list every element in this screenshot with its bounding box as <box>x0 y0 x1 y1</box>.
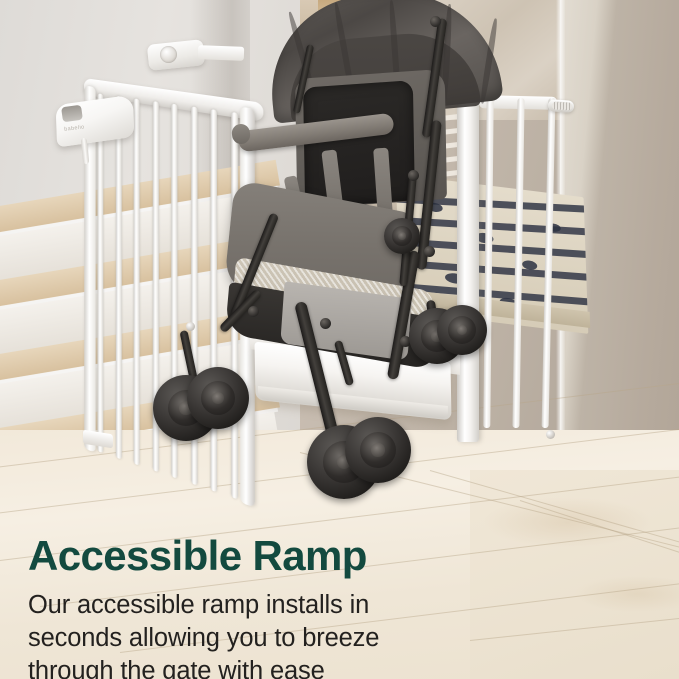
stroller-seat-pad <box>303 80 415 208</box>
frame-joint <box>320 318 331 329</box>
body-line-2: seconds allowing you to breeze <box>28 622 588 655</box>
hub <box>371 443 384 456</box>
hub <box>457 325 467 335</box>
body-line-3: through the gate with ease <box>28 655 588 679</box>
body-line-1: Our accessible ramp installs in <box>28 589 588 622</box>
frame-joint <box>424 246 435 257</box>
frame-joint <box>430 16 441 27</box>
headline: Accessible Ramp <box>28 534 588 579</box>
marketing-copy: Accessible Ramp Our accessible ramp inst… <box>28 534 588 679</box>
hub <box>398 232 405 239</box>
frame-joint <box>248 306 259 317</box>
body-copy: Our accessible ramp installs in seconds … <box>28 589 588 679</box>
product-lifestyle-image: babelio Accessible R <box>0 0 679 679</box>
frame-joint <box>408 170 419 181</box>
